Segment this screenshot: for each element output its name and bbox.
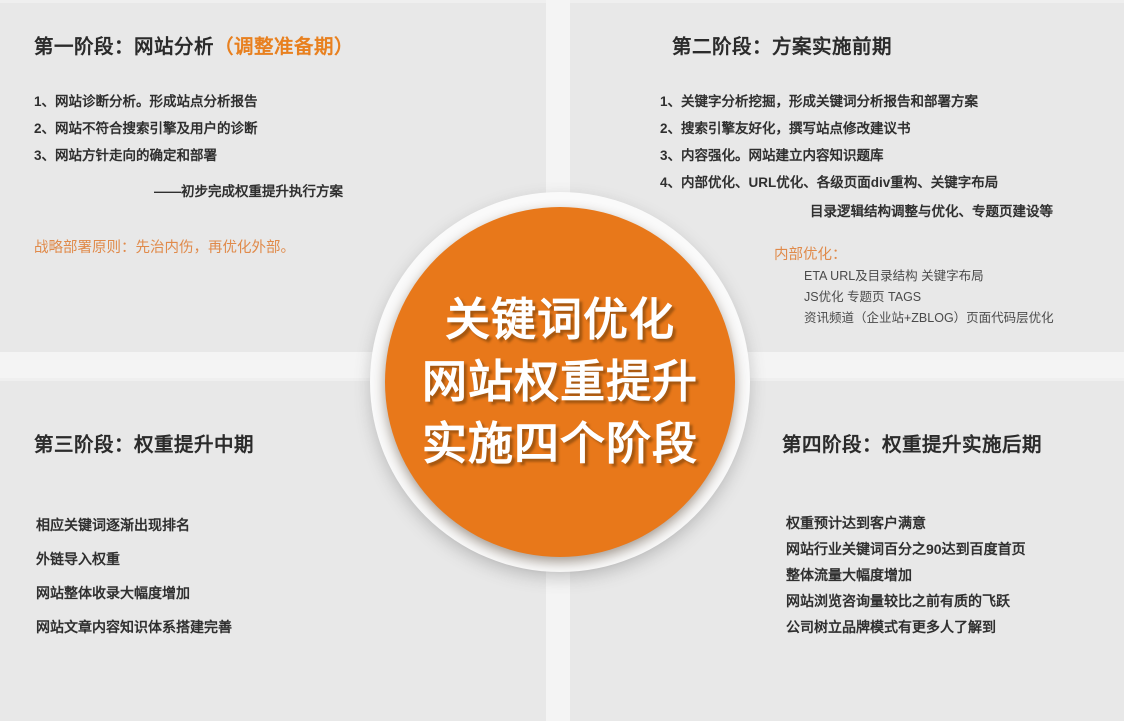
- list-item: 网站文章内容知识体系搭建完善: [36, 610, 232, 644]
- list-item: 3、内容强化。网站建立内容知识题库: [660, 142, 998, 169]
- center-line-2: 网站权重提升: [422, 351, 698, 413]
- list-item: 权重预计达到客户满意: [786, 510, 1026, 536]
- phase-1-title-accent: （调整准备期）: [214, 36, 354, 58]
- list-item: 2、网站不符合搜索引擎及用户的诊断: [34, 115, 258, 142]
- phase-3-item-list: 相应关键词逐渐出现排名 外链导入权重 网站整体收录大幅度增加 网站文章内容知识体…: [36, 508, 232, 644]
- phase-4-item-list: 权重预计达到客户满意 网站行业关键词百分之90达到百度首页 整体流量大幅度增加 …: [786, 510, 1026, 640]
- phase-1-note: 战略部署原则：先治内伤，再优化外部。: [34, 236, 295, 257]
- phase-3-title: 第三阶段：权重提升中期: [34, 428, 254, 457]
- phase-3-title-main: 第三阶段：权重提升中期: [34, 434, 254, 456]
- list-item: 资讯频道（企业站+ZBLOG）页面代码层优化: [804, 308, 1054, 329]
- phase-4-title: 第四阶段：权重提升实施后期: [782, 428, 1042, 457]
- list-item: 1、关键字分析挖掘，形成关键词分析报告和部署方案: [660, 88, 998, 115]
- phase-2-note: 内部优化：: [774, 243, 847, 264]
- phase-2-summary: 目录逻辑结构调整与优化、专题页建设等: [810, 200, 1053, 220]
- list-item: JS优化 专题页 TAGS: [804, 287, 1054, 308]
- list-item: 公司树立品牌模式有更多人了解到: [786, 614, 1026, 640]
- list-item: 3、网站方针走向的确定和部署: [34, 142, 258, 169]
- phase-1-item-list: 1、网站诊断分析。形成站点分析报告 2、网站不符合搜索引擎及用户的诊断 3、网站…: [34, 88, 258, 169]
- center-line-3: 实施四个阶段: [422, 413, 698, 475]
- center-circle-body: 关键词优化 网站权重提升 实施四个阶段: [385, 207, 735, 557]
- list-item: 外链导入权重: [36, 542, 232, 576]
- phase-2-title-main: 第二阶段：方案实施前期: [672, 36, 892, 58]
- phase-2-item-list: 1、关键字分析挖掘，形成关键词分析报告和部署方案 2、搜索引擎友好化，撰写站点修…: [660, 88, 998, 196]
- list-item: ETA URL及目录结构 关键字布局: [804, 266, 1054, 287]
- center-line-1: 关键词优化: [445, 289, 675, 351]
- diagram-canvas: 第一阶段：网站分析（调整准备期） 1、网站诊断分析。形成站点分析报告 2、网站不…: [0, 0, 1124, 721]
- list-item: 网站浏览咨询量较比之前有质的飞跃: [786, 588, 1026, 614]
- phase-1-title-main: 第一阶段：网站分析: [34, 36, 214, 58]
- center-circle: 关键词优化 网站权重提升 实施四个阶段: [370, 192, 750, 572]
- phase-1-summary: ——初步完成权重提升执行方案: [154, 180, 343, 200]
- list-item: 2、搜索引擎友好化，撰写站点修改建议书: [660, 115, 998, 142]
- list-item: 相应关键词逐渐出现排名: [36, 508, 232, 542]
- phase-2-title: 第二阶段：方案实施前期: [672, 30, 892, 59]
- list-item: 网站整体收录大幅度增加: [36, 576, 232, 610]
- list-item: 1、网站诊断分析。形成站点分析报告: [34, 88, 258, 115]
- phase-1-title: 第一阶段：网站分析（调整准备期）: [34, 30, 354, 59]
- phase-4-title-main: 第四阶段：权重提升实施后期: [782, 434, 1042, 456]
- list-item: 网站行业关键词百分之90达到百度首页: [786, 536, 1026, 562]
- list-item: 整体流量大幅度增加: [786, 562, 1026, 588]
- phase-2-note-sub-list: ETA URL及目录结构 关键字布局 JS优化 专题页 TAGS 资讯频道（企业…: [804, 266, 1054, 329]
